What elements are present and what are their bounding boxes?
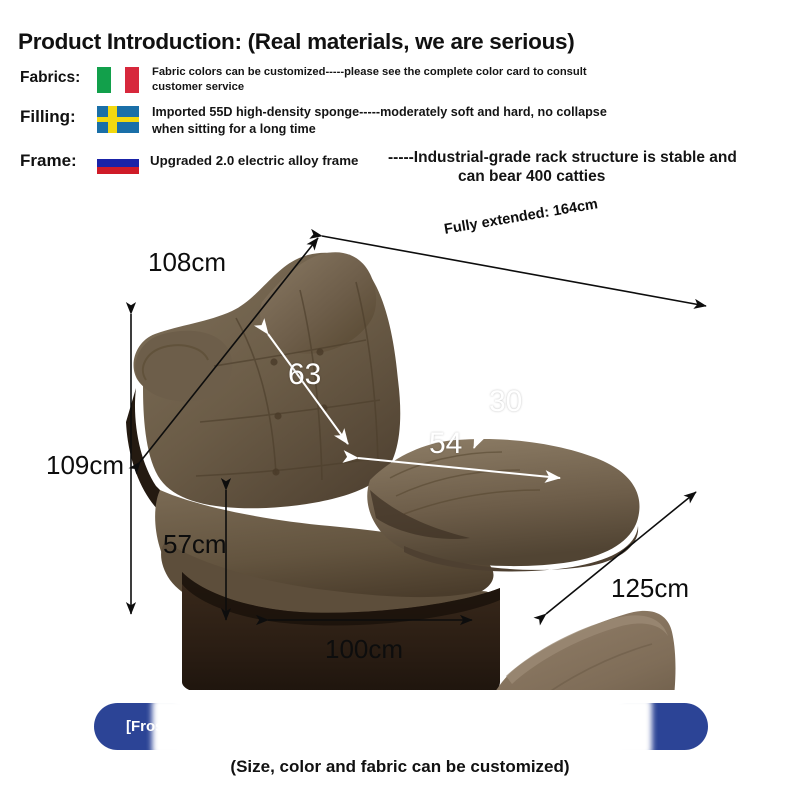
dimension-label-100: 100cm	[325, 634, 403, 665]
sweden-flag-icon	[97, 106, 139, 133]
dimension-label-108: 108cm	[148, 247, 226, 278]
spec-text-fabrics-line1: Fabric colors can be customized-----plea…	[152, 65, 772, 80]
spec-label-fabrics: Fabrics:	[20, 69, 80, 87]
dimension-label-63: 63	[288, 358, 321, 392]
spec-text-frame-line2: -----Industrial-grade rack structure is …	[388, 148, 737, 168]
italy-flag-icon	[97, 67, 139, 93]
spec-text-frame-line3: can bear 400 catties	[458, 167, 605, 187]
spec-text-filling-line2: when sitting for a long time	[152, 121, 792, 138]
dimension-label-109: 109cm	[46, 450, 124, 481]
page-title: Product Introduction: (Real materials, w…	[18, 29, 574, 55]
dimension-label-30: 30	[489, 385, 522, 419]
spec-label-filling: Filling:	[20, 107, 76, 127]
badge-left-overlay	[152, 698, 222, 756]
dimension-label-125: 125cm	[611, 573, 689, 604]
product-diagram	[0, 190, 800, 690]
dimension-label-54: 54	[429, 427, 462, 461]
russia-flag-icon	[97, 152, 139, 174]
footer-caption: (Size, color and fabric can be customize…	[0, 757, 800, 777]
product-spec-infographic: Product Introduction: (Real materials, w…	[0, 0, 800, 800]
spec-text-fabrics-line2: customer service	[152, 80, 772, 95]
recliner-illustration	[126, 252, 675, 690]
spec-text-filling-line1: Imported 55D high-density sponge-----mod…	[152, 104, 792, 121]
spec-label-frame: Frame:	[20, 151, 77, 171]
dimension-label-57: 57cm	[163, 529, 227, 560]
spec-text-frame-line1: Upgraded 2.0 electric alloy frame	[150, 152, 358, 170]
badge-right-overlay	[572, 698, 652, 756]
